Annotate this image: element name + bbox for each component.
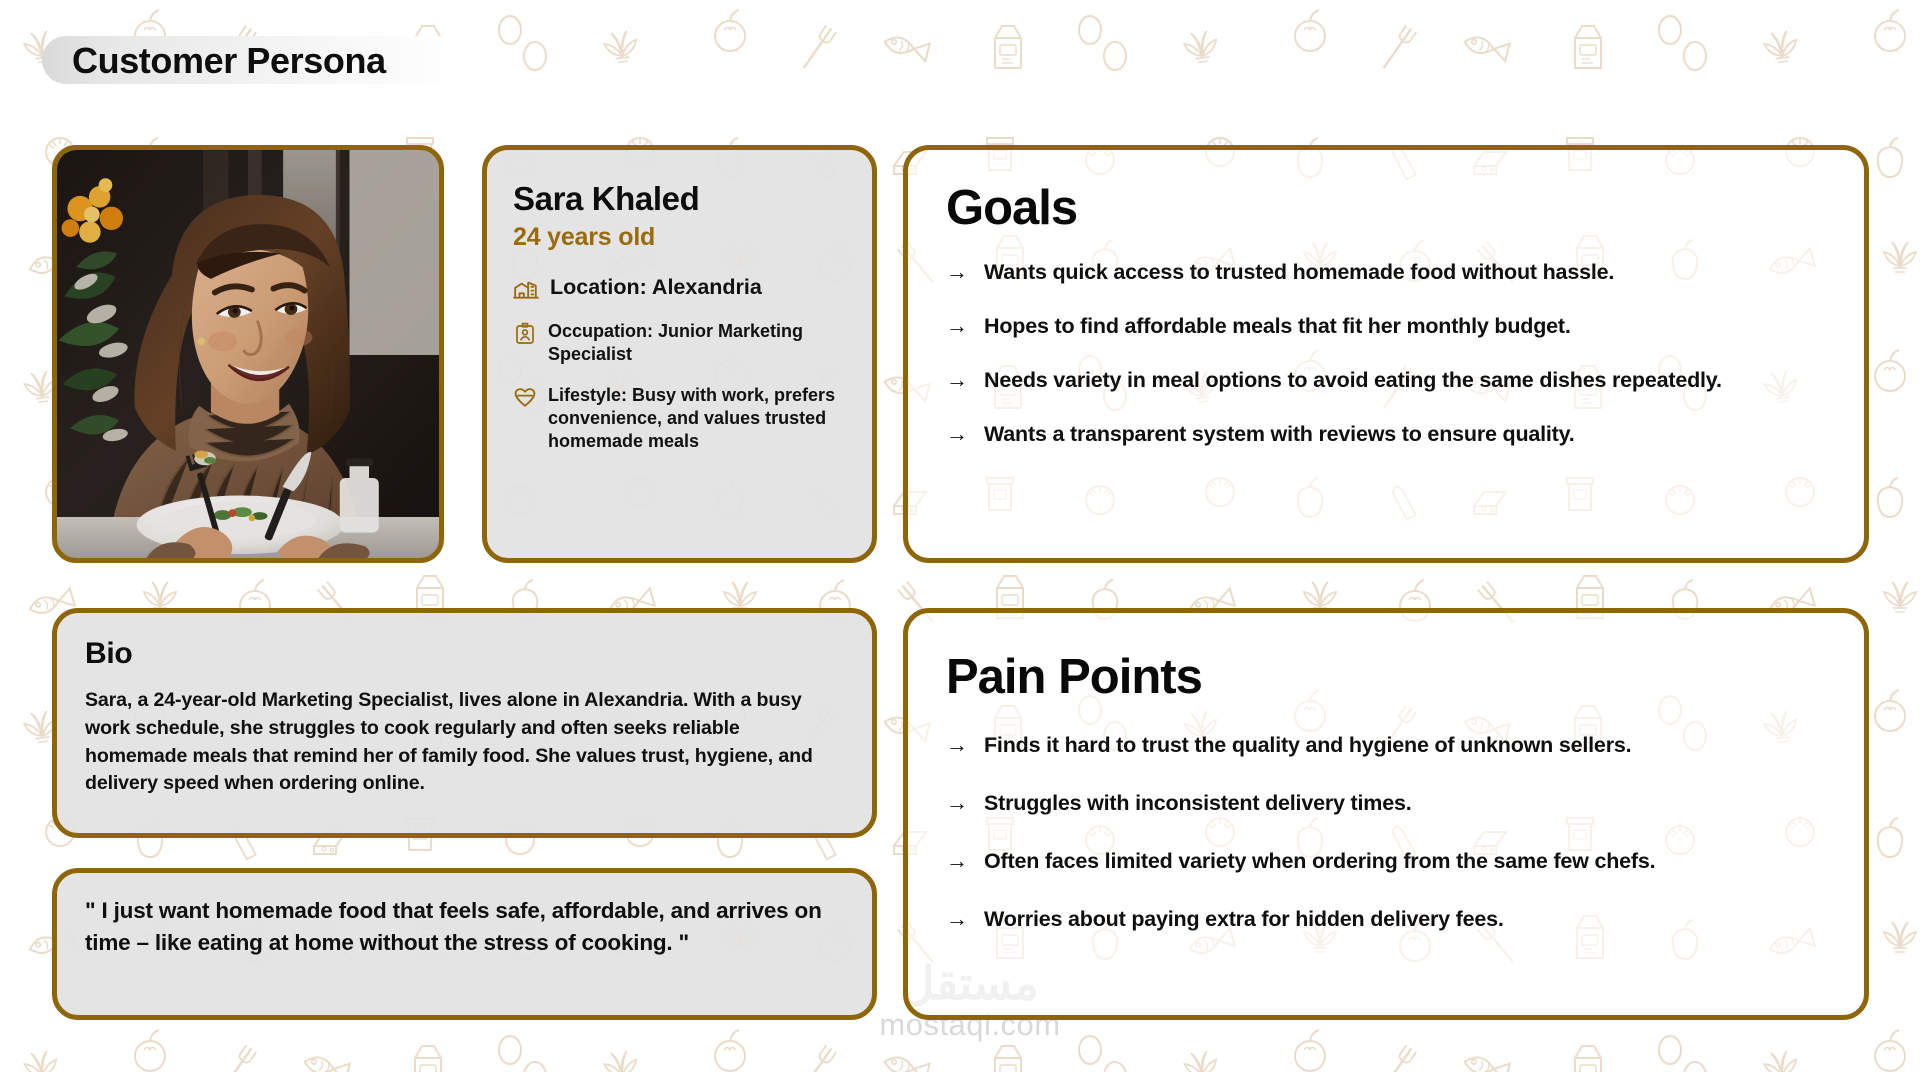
goals-list: → Wants quick access to trusted homemade… <box>946 259 1826 449</box>
goals-heading: Goals <box>946 184 1826 233</box>
pain-points-list-item: → Struggles with inconsistent delivery t… <box>946 790 1826 818</box>
goals-card: Goals → Wants quick access to trusted ho… <box>903 145 1869 563</box>
arrow-right-icon: → <box>946 369 968 391</box>
persona-fact-lifestyle: Lifestyle: Busy with work, prefers conve… <box>513 384 846 453</box>
pain-points-list-item: → Finds it hard to trust the quality and… <box>946 732 1826 760</box>
goals-list-item: → Hopes to find affordable meals that fi… <box>946 313 1826 341</box>
bio-heading: Bio <box>85 637 844 671</box>
persona-details-card: Sara Khaled 24 years old Location: Alexa… <box>482 145 877 563</box>
persona-fact-lifestyle-text: Lifestyle: Busy with work, prefers conve… <box>548 384 846 453</box>
pain-points-list-item-text: Worries about paying extra for hidden de… <box>984 906 1504 934</box>
persona-quote-text: " I just want homemade food that feels s… <box>85 895 844 958</box>
persona-facts-list: Location: Alexandria Occupation: Junior … <box>513 274 846 453</box>
heart-line-icon <box>513 386 537 410</box>
pain-points-list-item-text: Often faces limited variety when orderin… <box>984 848 1655 876</box>
persona-quote-card: " I just want homemade food that feels s… <box>52 868 877 1020</box>
goals-list-item-text: Hopes to find affordable meals that fit … <box>984 313 1571 341</box>
pain-points-list-item-text: Struggles with inconsistent delivery tim… <box>984 790 1411 818</box>
arrow-right-icon: → <box>946 850 968 872</box>
persona-photo <box>57 150 439 558</box>
persona-name: Sara Khaled <box>513 182 846 217</box>
arrow-right-icon: → <box>946 734 968 756</box>
pain-points-list-item: → Often faces limited variety when order… <box>946 848 1826 876</box>
pain-points-card: Pain Points → Finds it hard to trust the… <box>903 608 1869 1020</box>
goals-list-item-text: Wants a transparent system with reviews … <box>984 421 1575 449</box>
goals-list-item: → Wants a transparent system with review… <box>946 421 1826 449</box>
persona-age: 24 years old <box>513 223 846 252</box>
id-badge-icon <box>513 322 537 346</box>
persona-photo-card <box>52 145 444 563</box>
pain-points-list-item: → Worries about paying extra for hidden … <box>946 906 1826 934</box>
arrow-right-icon: → <box>946 423 968 445</box>
arrow-right-icon: → <box>946 315 968 337</box>
pain-points-list: → Finds it hard to trust the quality and… <box>946 732 1826 934</box>
arrow-right-icon: → <box>946 908 968 930</box>
pain-points-heading: Pain Points <box>946 653 1826 702</box>
persona-fact-occupation-text: Occupation: Junior Marketing Specialist <box>548 320 846 366</box>
page-title: Customer Persona <box>72 40 386 82</box>
goals-list-item-text: Wants quick access to trusted homemade f… <box>984 259 1614 287</box>
bio-body-text: Sara, a 24-year-old Marketing Specialist… <box>85 687 844 798</box>
bio-card: Bio Sara, a 24-year-old Marketing Specia… <box>52 608 877 838</box>
persona-fact-occupation: Occupation: Junior Marketing Specialist <box>513 320 846 366</box>
goals-list-item: → Wants quick access to trusted homemade… <box>946 259 1826 287</box>
city-buildings-icon <box>513 276 539 302</box>
pain-points-list-item-text: Finds it hard to trust the quality and h… <box>984 732 1631 760</box>
arrow-right-icon: → <box>946 792 968 814</box>
goals-list-item-text: Needs variety in meal options to avoid e… <box>984 367 1722 395</box>
persona-fact-location-text: Location: Alexandria <box>550 274 762 302</box>
arrow-right-icon: → <box>946 261 968 283</box>
persona-board: Customer Persona <box>0 0 1920 1072</box>
goals-list-item: → Needs variety in meal options to avoid… <box>946 367 1826 395</box>
persona-fact-location: Location: Alexandria <box>513 274 846 302</box>
